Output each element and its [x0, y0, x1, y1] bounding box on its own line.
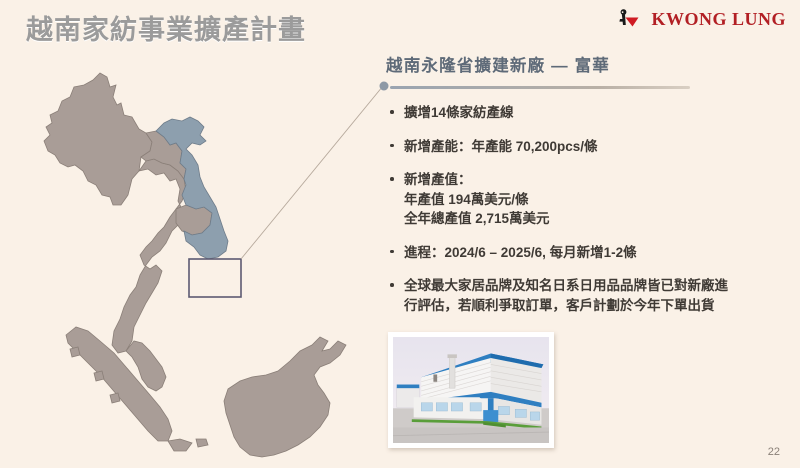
- southeast-asia-map: [0, 45, 380, 468]
- bullet-subline: 行評估，若順利爭取訂單，客戶計劃於今年下單出貨: [404, 296, 792, 316]
- page-title: 越南家紡事業擴產計畫: [26, 8, 306, 47]
- factory-illustration: [393, 337, 549, 443]
- bullet-item: 新增產值： 年產值 194萬美元/條 全年總產值 2,715萬美元: [388, 170, 792, 229]
- bullet-dot-icon: [390, 250, 394, 254]
- bullet-item: 進程：2024/6 – 2025/6, 每月新增1-2條: [388, 243, 792, 263]
- bullet-text: 擴增14條家紡產線: [404, 105, 514, 120]
- southern-vietnam-highlight-box: [189, 259, 241, 297]
- bullet-dot-icon: [390, 177, 394, 181]
- bullet-subline: 全年總產值 2,715萬美元: [404, 209, 792, 229]
- brand-name: KWONG LUNG: [651, 9, 786, 30]
- bullet-list: 擴增14條家紡產線 新增產能：年產能 70,200pcs/條 新增產值： 年產值…: [388, 103, 792, 316]
- bullet-item: 全球最大家居品牌及知名日系日用品品牌皆已對新廠進 行評估，若順利爭取訂單，客戶計…: [388, 276, 792, 315]
- bullet-item: 擴增14條家紡產線: [388, 103, 792, 123]
- bullet-text: 新增產值：: [404, 172, 472, 187]
- bullet-text: 進程：2024/6 – 2025/6, 每月新增1-2條: [404, 245, 637, 260]
- photo-inner: [393, 337, 549, 443]
- bullet-text: 全球最大家居品牌及知名日系日用品品牌皆已對新廠進: [404, 278, 728, 293]
- page-number: 22: [768, 446, 780, 458]
- slide-canvas: 越南家紡事業擴產計畫 KWONG LUNG: [0, 0, 800, 468]
- section-heading: 越南永隆省擴建新廠 — 富華: [386, 52, 792, 76]
- bullet-dot-icon: [390, 283, 394, 287]
- bullet-text: 新增產能：年產能 70,200pcs/條: [404, 139, 598, 154]
- bullet-dot-icon: [390, 144, 394, 148]
- map-svg: [0, 45, 380, 468]
- bullet-item: 新增產能：年產能 70,200pcs/條: [388, 137, 792, 157]
- heading-underline: [390, 86, 690, 89]
- goose-logo-icon: [615, 7, 645, 31]
- content-panel: 越南永隆省擴建新廠 — 富華 擴增14條家紡產線 新增產能：年產能 70,200…: [378, 52, 792, 330]
- bullet-subline: 年產值 194萬美元/條: [404, 190, 792, 210]
- brand-logo: KWONG LUNG: [615, 7, 786, 31]
- new-factory-exterior-photo: [388, 332, 554, 448]
- bullet-dot-icon: [390, 110, 394, 114]
